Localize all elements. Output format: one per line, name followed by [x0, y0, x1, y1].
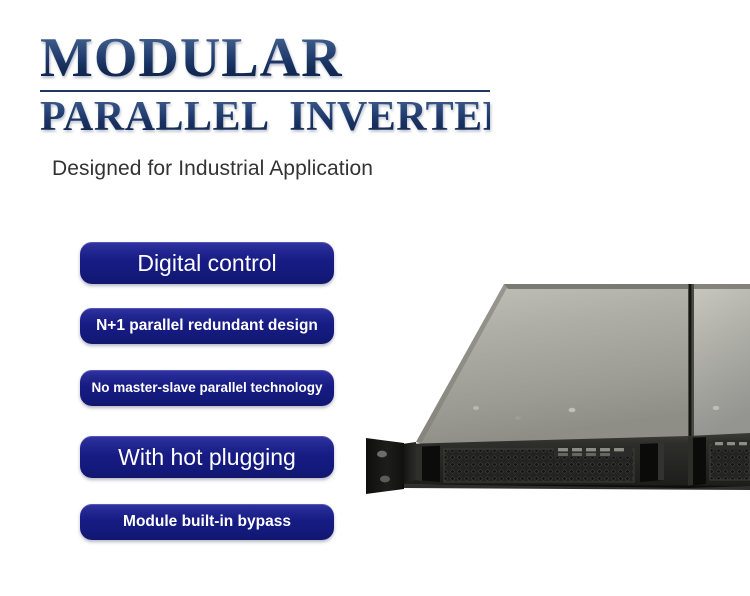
- title-divider-rule: [40, 90, 490, 92]
- module-right-top-plate: [694, 284, 750, 438]
- feature-list: Digital control N+1 parallel redundant d…: [80, 242, 334, 540]
- rack-mount-ear[interactable]: [366, 438, 404, 494]
- module-right-handle-lip: [688, 438, 693, 486]
- poster-root: MODULAR PARALLEL INVERTER Designed for I…: [0, 0, 750, 596]
- product-photo-inverter-modules: [358, 258, 750, 508]
- page-title-primary: MODULAR: [40, 30, 490, 86]
- module-right-top-edge-highlight: [694, 284, 750, 289]
- feature-button-no-master-slave[interactable]: No master-slave parallel technology: [80, 370, 334, 406]
- module-left-top-plate: [416, 284, 688, 444]
- title-block: MODULAR PARALLEL INVERTER: [40, 30, 490, 139]
- rack-ear-hole: [380, 476, 390, 483]
- feature-button-digital-control[interactable]: Digital control: [80, 242, 334, 284]
- module-left-side-wall: [402, 442, 416, 484]
- module-left-top-edge-highlight: [504, 284, 688, 289]
- module-left-mesh-grille-lower: [444, 454, 634, 482]
- feature-button-hot-plugging[interactable]: With hot plugging: [80, 436, 334, 478]
- feature-label: No master-slave parallel technology: [80, 370, 334, 406]
- rack-ear-hole: [377, 451, 387, 458]
- module-left-handle-lip: [416, 447, 422, 482]
- top-screw: [713, 406, 720, 410]
- top-screw: [569, 408, 576, 412]
- module-right-mesh-grille: [710, 446, 750, 480]
- product-illustration: [358, 258, 750, 508]
- feature-button-n-plus-1-redundant[interactable]: N+1 parallel redundant design: [80, 308, 334, 344]
- feature-button-module-bypass[interactable]: Module built-in bypass: [80, 504, 334, 540]
- module-right-led-indicators: [715, 442, 747, 445]
- feature-label: With hot plugging: [80, 436, 334, 478]
- feature-label: N+1 parallel redundant design: [80, 308, 334, 344]
- top-screw: [473, 406, 479, 410]
- page-subtitle: Designed for Industrial Application: [52, 157, 373, 181]
- module-left-right-handle-lip: [658, 443, 664, 480]
- feature-label: Module built-in bypass: [80, 504, 334, 540]
- module-seam-shadow: [689, 284, 691, 438]
- feature-label: Digital control: [80, 242, 334, 284]
- top-screw: [515, 416, 521, 420]
- page-title-secondary: PARALLEL INVERTER: [40, 95, 490, 139]
